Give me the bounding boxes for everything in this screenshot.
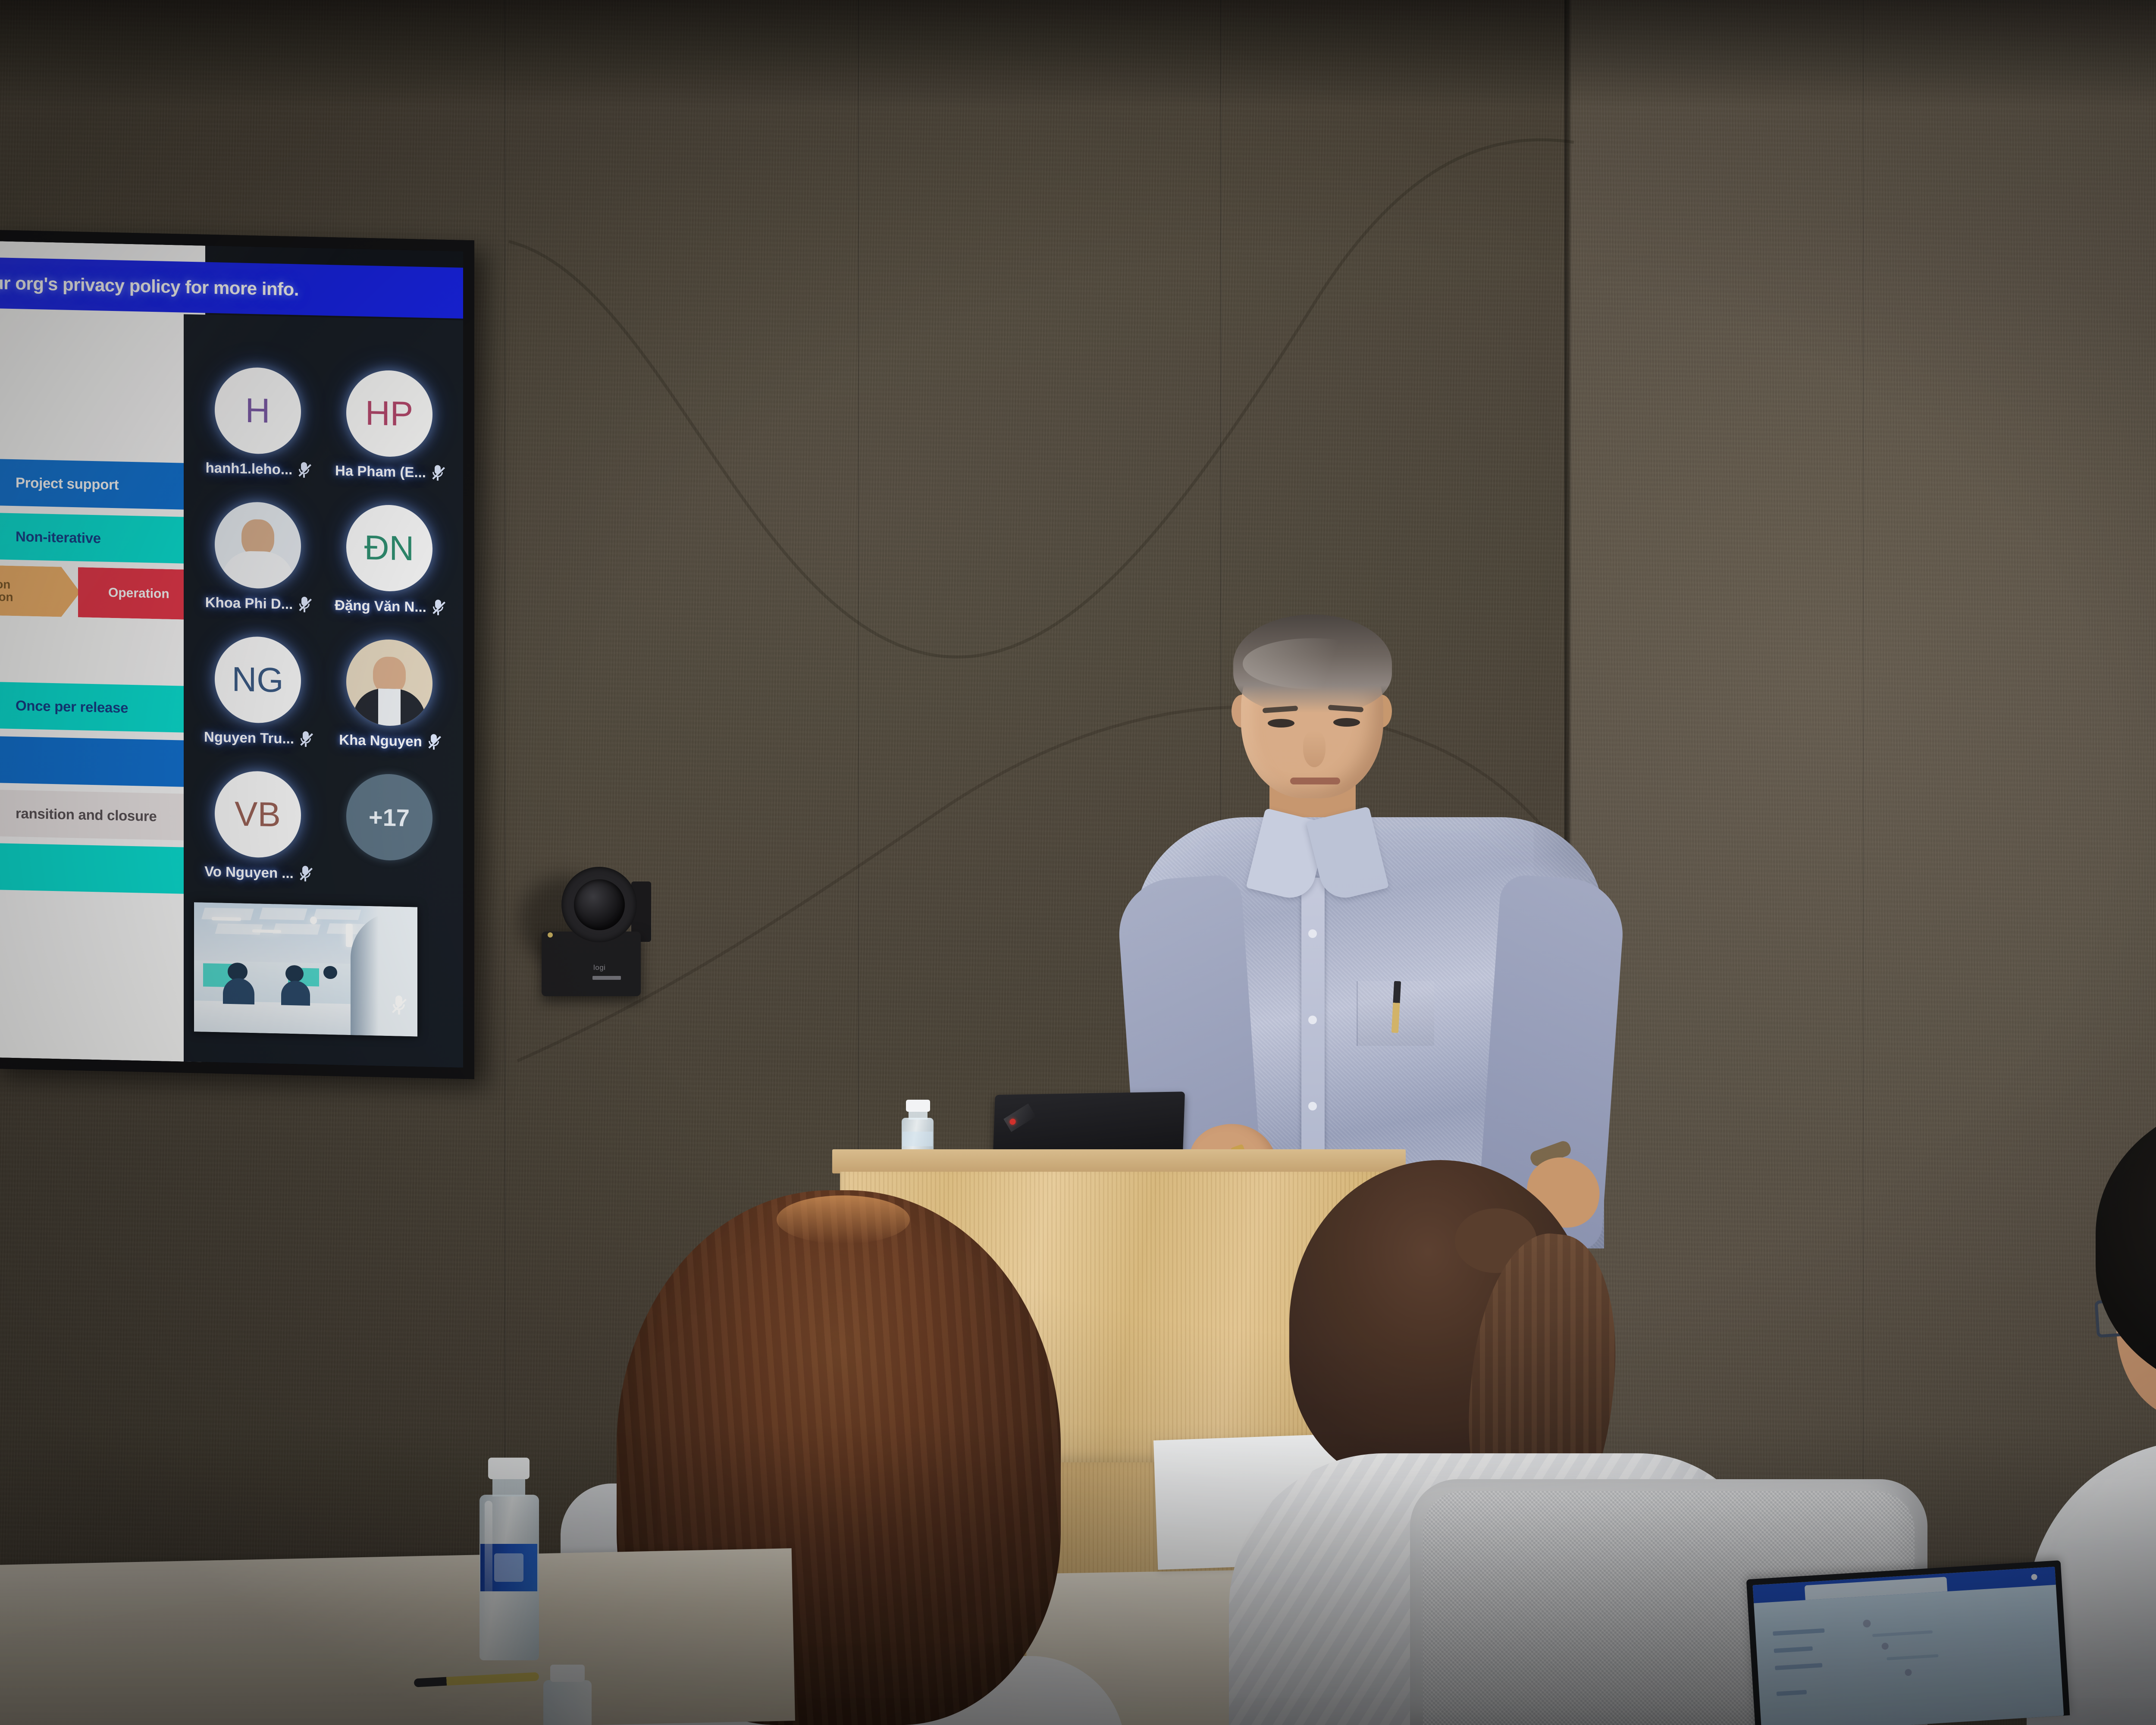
mic-muted-icon [432, 465, 443, 481]
slide-bar-non-iterative: Non-iterative [0, 512, 205, 564]
participant-tile[interactable]: Kha Nguyen [325, 638, 454, 751]
participant-overflow-tile[interactable]: +17 [325, 773, 454, 885]
participant-name-row: Kha Nguyen [339, 731, 439, 750]
slide-bar-transition-and-closure: ransition and closure [0, 789, 214, 841]
slide-bar-blank-blue [0, 736, 214, 787]
meeting-table-front [0, 1548, 795, 1725]
participant-tile[interactable]: H hanh1.leho... [193, 366, 322, 479]
privacy-policy-banner: our org's privacy policy for more info. [0, 257, 463, 319]
participant-name-row: hanh1.leho... [206, 460, 310, 478]
slide-bar-blank-cyan [0, 843, 214, 894]
camera-head [561, 867, 637, 942]
avatar: VB [215, 770, 301, 858]
participant-grid: H hanh1.leho... HP Ha Pham (E... [193, 366, 454, 885]
mic-muted-icon [300, 731, 311, 747]
participant-tile[interactable]: NG Nguyen Tru... [193, 635, 322, 748]
water-bottle-front [473, 1458, 542, 1660]
participant-name-row: Ha Pham (E... [335, 462, 443, 481]
participant-name-row: Khoa Phi D... [205, 594, 310, 613]
camera-brand-label: logi [593, 963, 605, 972]
attendee-right-laptop[interactable] [1746, 1560, 2070, 1725]
avatar: NG [215, 636, 301, 724]
participant-tile[interactable]: ĐN Đặng Văn N... [325, 504, 454, 616]
participant-name-row: Vo Nguyen ... [204, 863, 311, 882]
camera-led-icon [548, 932, 553, 938]
wall-seam [1863, 0, 1865, 1725]
water-bottle-front-second [539, 1665, 595, 1725]
camera-lens-icon [574, 879, 625, 930]
mic-muted-icon [432, 599, 444, 615]
bottle-cap [488, 1458, 530, 1479]
slide-bar-once-per-release: Once per release [0, 681, 214, 733]
slide-bar-project-support: Project support [0, 458, 205, 510]
shared-slide: Project support Non-iterative ution siti… [0, 241, 205, 1062]
selfview-mic-muted-icon [392, 995, 406, 1017]
avatar: ĐN [346, 504, 432, 592]
conference-room-photo: Project support Non-iterative ution siti… [0, 0, 2156, 1725]
participant-tile[interactable]: Khoa Phi D... [193, 501, 322, 613]
participant-tile[interactable]: VB Vo Nguyen ... [193, 770, 322, 882]
participant-tile[interactable]: HP Ha Pham (E... [325, 369, 454, 482]
avatar-photo [346, 639, 432, 727]
participant-name-row: Nguyen Tru... [204, 729, 311, 747]
participant-name-row: Đặng Văn N... [335, 597, 444, 616]
mic-muted-icon [300, 866, 311, 881]
avatar: HP [346, 370, 432, 458]
avatar: H [215, 367, 301, 455]
conference-camera: logi [539, 867, 651, 996]
mic-muted-icon [428, 734, 439, 750]
overflow-avatar: +17 [346, 773, 432, 861]
self-view-thumbnail[interactable] [194, 902, 417, 1036]
participant-roster-panel: H hanh1.leho... HP Ha Pham (E... [184, 314, 463, 1068]
wall-display-tv[interactable]: Project support Non-iterative ution siti… [0, 230, 474, 1079]
tv-screen: Project support Non-iterative ution siti… [0, 241, 463, 1068]
avatar-photo [215, 501, 301, 589]
laptop-screen [1753, 1567, 2064, 1725]
mic-muted-icon [299, 596, 310, 612]
mic-muted-icon [298, 462, 310, 478]
presenter-hair [1233, 615, 1392, 713]
slide-chevron-solution-transition: ution sition [0, 565, 80, 618]
